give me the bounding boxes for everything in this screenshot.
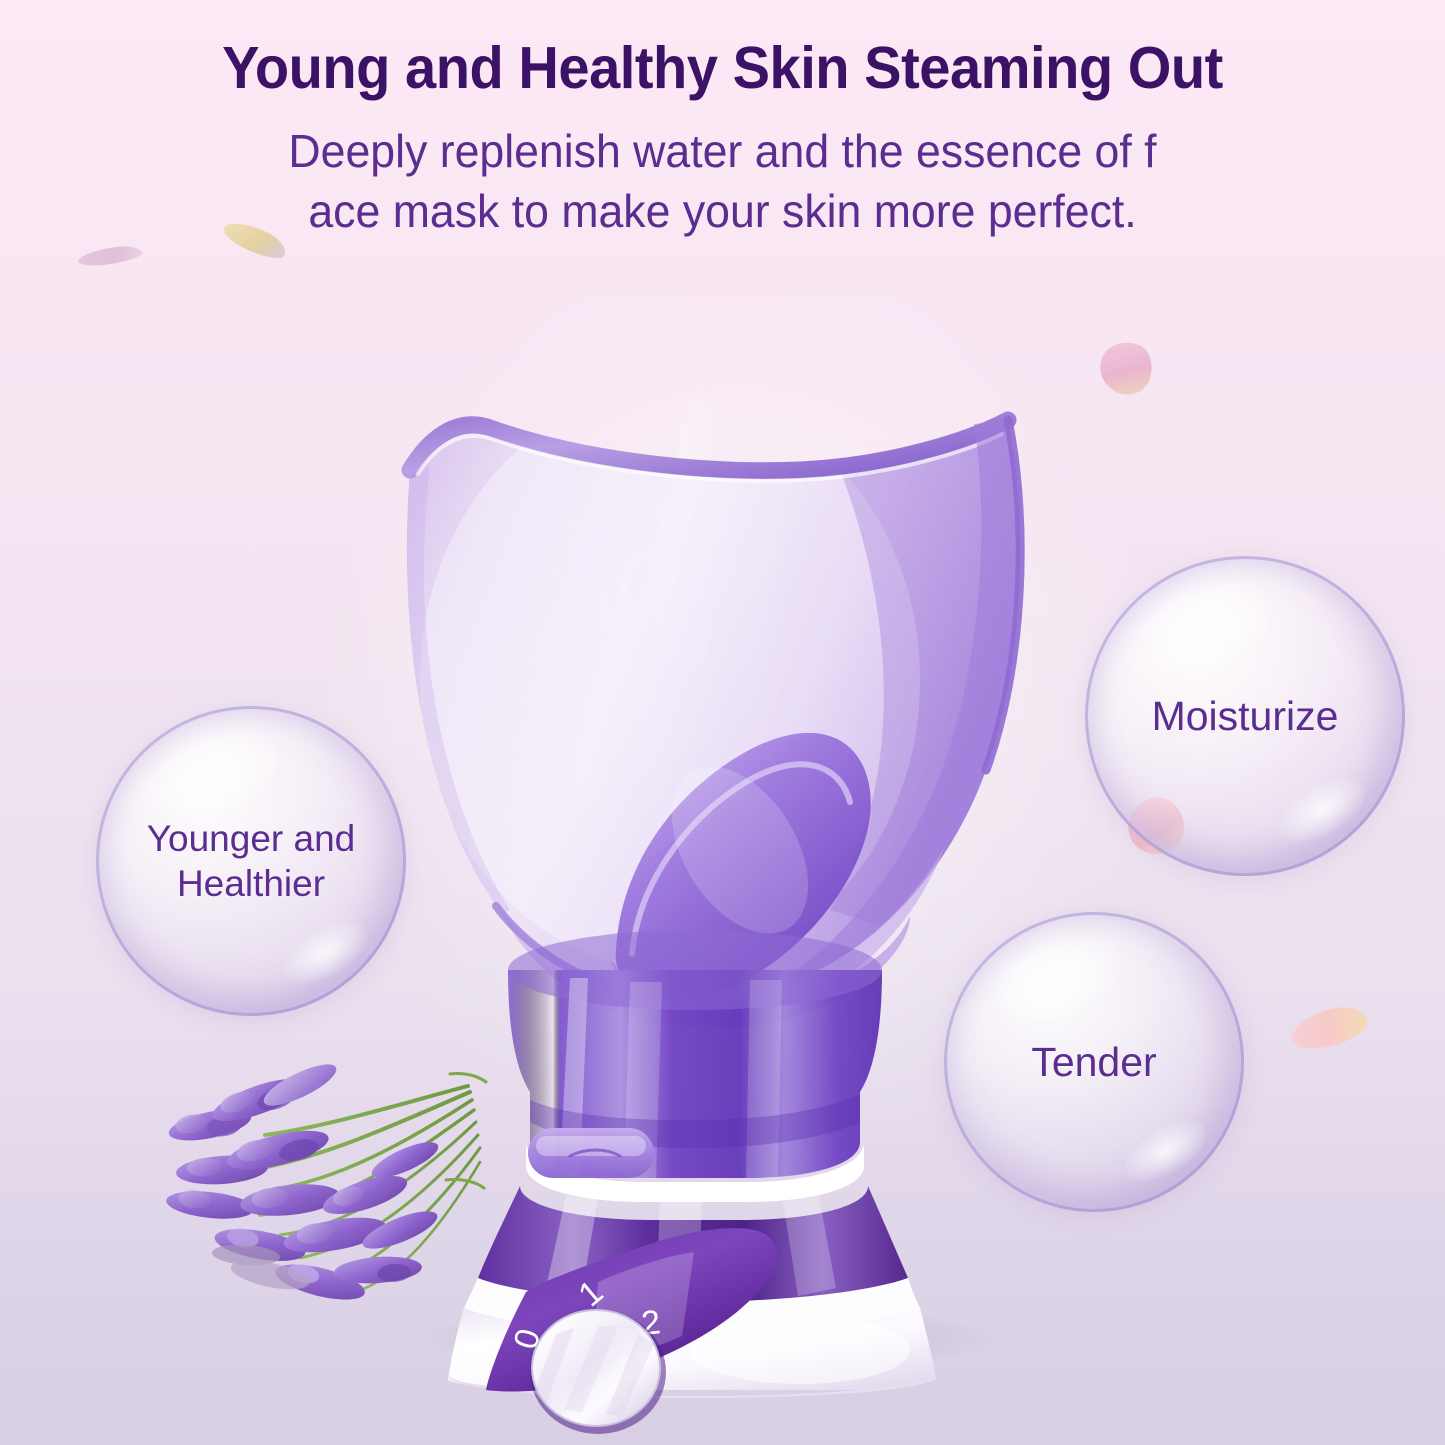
petal-bottom-right-peach	[1287, 1001, 1371, 1055]
feature-bubble-label: Moisturize	[1152, 691, 1339, 741]
page-subtitle-line-1: Deeply replenish water and the essence o…	[22, 122, 1424, 182]
page-title: Young and Healthy Skin Steaming Out	[36, 38, 1409, 100]
feature-bubble-label: Tender	[1031, 1037, 1156, 1087]
feature-bubble-label-line-2: Healthier	[177, 863, 325, 904]
feature-bubble-label-line-1: Younger and	[147, 818, 356, 859]
feature-bubble-younger-healthier[interactable]: Younger and Healthier	[96, 706, 406, 1016]
feature-bubble-label: Younger and Healthier	[147, 816, 356, 906]
product-marketing-banner: Young and Healthy Skin Steaming Out Deep…	[0, 0, 1445, 1445]
feature-bubble-moisturize[interactable]: Moisturize	[1085, 556, 1405, 876]
facial-steamer-product: 0 1 2	[330, 330, 1110, 1390]
feature-bubble-tender[interactable]: Tender	[944, 912, 1244, 1212]
petal-top-left-pale	[77, 244, 143, 269]
